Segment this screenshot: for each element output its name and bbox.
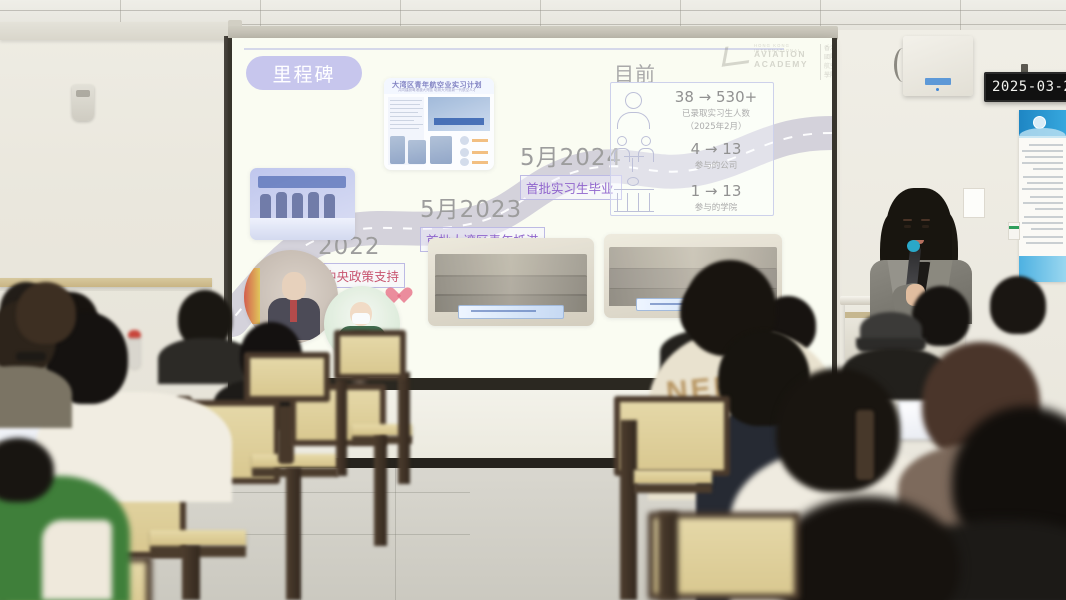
stat-row-interns: 38 → 530+ 已录取实习生人数 （2025年2月） — [610, 88, 774, 132]
stat-label: 已录取实习生人数 — [658, 107, 774, 119]
speaker-grill-icon — [76, 90, 90, 97]
stat-label: 参与的公司 — [658, 159, 774, 171]
seat-post — [620, 420, 637, 600]
person-icon — [610, 89, 658, 131]
wall-switch-plate — [1008, 222, 1020, 240]
air-purifier-icon — [903, 36, 973, 96]
air-purifier-indicator-icon — [936, 88, 939, 91]
audience-member-head — [776, 368, 900, 492]
bottle-cap — [128, 330, 141, 338]
poster-wave-decoration — [1019, 128, 1066, 138]
microphone-tip-icon — [907, 240, 920, 252]
air-purifier-logo-icon — [925, 78, 951, 85]
stat-value: 4 → 13 — [658, 140, 774, 158]
stat-label: 参与的学院 — [658, 201, 774, 213]
eyeglasses-icon — [16, 352, 46, 361]
group-banner — [458, 305, 564, 319]
desk-surface — [634, 470, 712, 484]
lecture-hall-photo: 2025-03-26 — [0, 0, 1066, 600]
milestone-2024: 5月2024 首批实习生毕业 — [520, 138, 622, 200]
group-photo-1 — [428, 238, 594, 326]
stage-platform — [250, 218, 355, 240]
wall-switch-indicator-icon — [1009, 226, 1019, 229]
heart-icon — [384, 288, 404, 306]
wall-poster — [1019, 110, 1066, 282]
flag-decoration — [244, 268, 260, 324]
news-subline: 共同建設粵港澳大灣區 培育大灣區新一代航空人才 — [398, 88, 476, 93]
audience-member-head — [16, 282, 76, 344]
seat-post — [286, 468, 301, 600]
school-icon — [610, 176, 658, 218]
stat-row-companies: 4 → 13 参与的公司 — [610, 134, 774, 176]
led-date-text: 2025-03-26 — [986, 79, 1066, 95]
ceiling-soffit — [0, 22, 240, 40]
water-bottle — [128, 336, 141, 370]
milestone-tag: 首批实习生毕业 — [520, 175, 622, 200]
stat-sublabel: （2025年2月） — [658, 120, 774, 132]
seat-arm — [856, 410, 874, 480]
meeting-icon — [610, 134, 658, 176]
panel-stage-photo — [250, 168, 355, 240]
milestone-year: 5月2024 — [520, 138, 622, 172]
led-date-display: 2025-03-26 — [984, 72, 1066, 102]
wall-curve-decoration — [894, 48, 912, 82]
desk-surface — [150, 530, 246, 546]
news-header: 大湾区青年航空业实习计划 共同建設粵港澳大灣區 培育大灣區新一代航空人才 — [384, 78, 494, 94]
stat-row-schools: 1 → 13 参与的学院 — [610, 176, 774, 218]
desk-surface — [252, 454, 338, 468]
audience-member-bag — [42, 520, 112, 600]
news-clipping-photo: 大湾区青年航空业实习计划 共同建設粵港澳大灣區 培育大灣區新一代航空人才 — [384, 78, 494, 170]
stat-value: 1 → 13 — [658, 182, 774, 200]
news-photo — [428, 97, 490, 131]
stage-banner — [258, 176, 346, 188]
stat-value: 38 → 530+ — [658, 88, 774, 106]
